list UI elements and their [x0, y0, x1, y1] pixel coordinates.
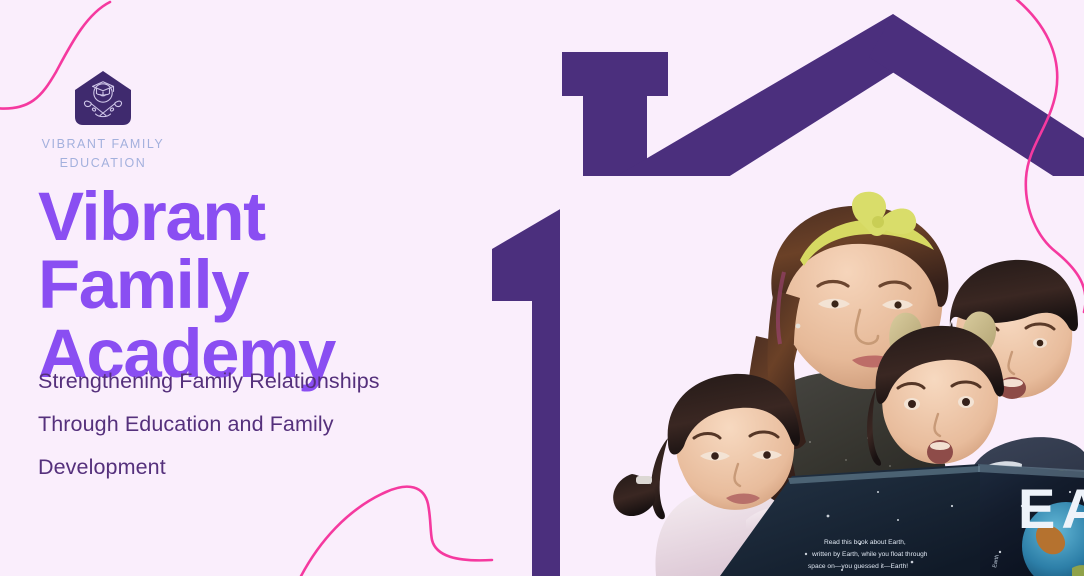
headband-knot [872, 216, 884, 228]
mother-pupil-right [894, 301, 901, 308]
toddler-pupil-left [711, 452, 719, 460]
mother-pupil-left [831, 300, 838, 307]
roof-right-slope-shape [869, 14, 1084, 196]
svg-text:written by Earth, while you fl: written by Earth, while you float throug… [811, 551, 928, 558]
girl-center-pupil-right [962, 398, 970, 406]
girl-center-pupil-left [908, 400, 916, 408]
family-photo-illustration: EA Read this book about Earth, written b… [560, 176, 1084, 576]
girl-center-teeth [930, 442, 950, 450]
svg-text:Read this book about Earth,: Read this book about Earth, [824, 539, 906, 546]
logo-wordmark: VIBRANT FAMILY EDUCATION [37, 135, 169, 174]
mother-earring [796, 324, 801, 329]
book-cover-letters: EA [1018, 477, 1084, 540]
svg-text:space on—you guessed it—Earth!: space on—you guessed it—Earth! [808, 563, 908, 570]
page-title: Vibrant Family Academy [38, 183, 478, 388]
brand-logo[interactable]: VIBRANT FAMILY EDUCATION [37, 70, 169, 174]
hair-clip-icon [636, 476, 652, 484]
boy-teeth [1001, 379, 1023, 387]
toddler-pupil-right [763, 451, 771, 459]
chimney-cap-shape [562, 52, 668, 96]
family-reading-photo: EA Read this book about Earth, written b… [560, 176, 1084, 576]
house-graduate-logo-icon [72, 70, 134, 128]
marketing-banner: EA Read this book about Earth, written b… [0, 0, 1084, 576]
hero-content-column: VIBRANT FAMILY EDUCATION Vibrant Family … [0, 0, 500, 576]
boy-pupil-right [1037, 340, 1044, 347]
page-subtitle: Strengthening Family Relationships Throu… [38, 360, 468, 489]
